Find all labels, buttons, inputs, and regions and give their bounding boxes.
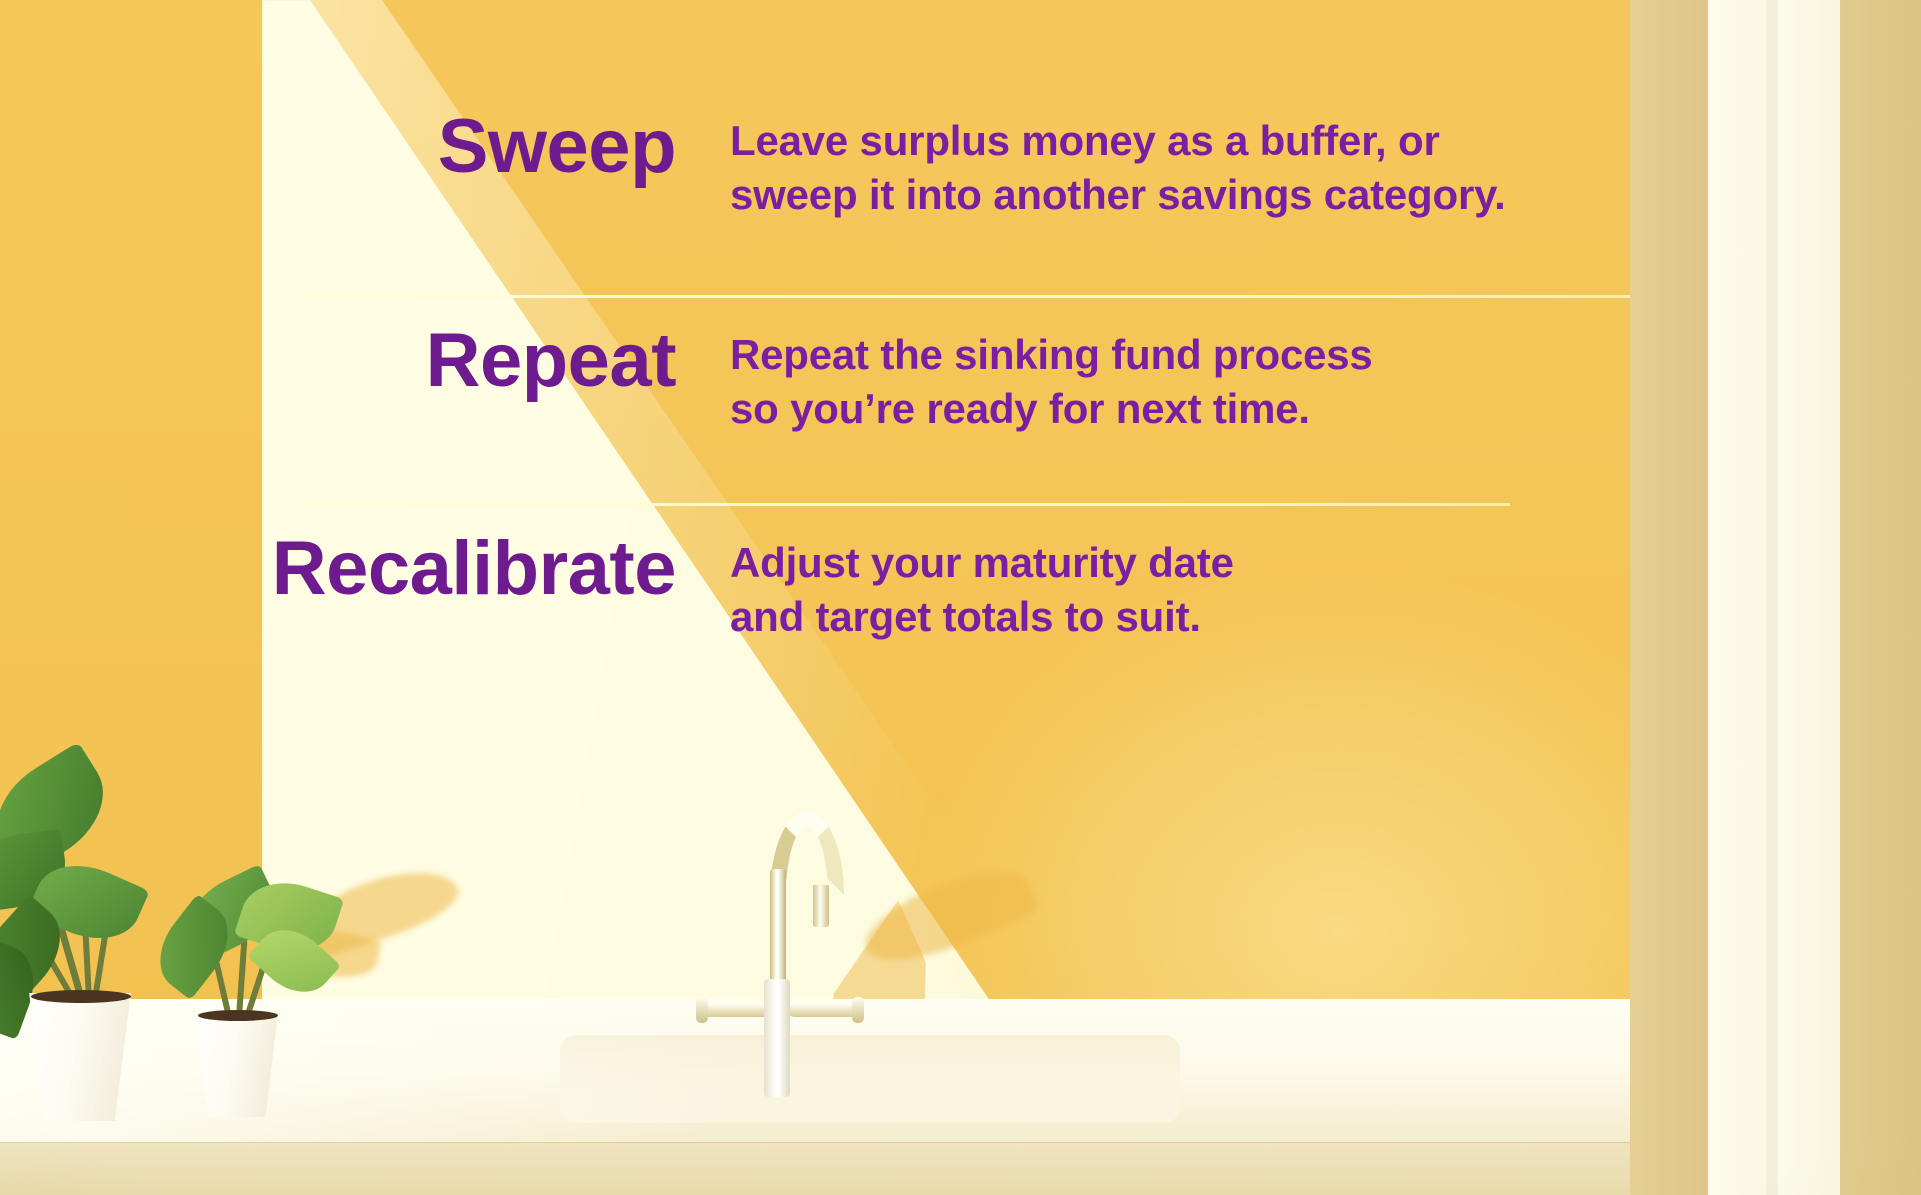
window-frame-band-3 <box>1766 0 1778 1195</box>
description-line: Leave surplus money as a buffer, or <box>730 114 1506 168</box>
row-divider <box>300 503 1510 506</box>
description-line: Repeat the sinking fund process <box>730 328 1373 382</box>
row-label-recalibrate: Recalibrate <box>0 530 730 608</box>
row-repeat: Repeat Repeat the sinking fund process s… <box>0 322 1630 436</box>
row-divider <box>302 295 1630 298</box>
window-frame-band-1 <box>1630 0 1708 1195</box>
slide-canvas: Sweep Leave surplus money as a buffer, o… <box>0 0 1921 1195</box>
window-frame-band-4 <box>1778 0 1840 1195</box>
row-label-repeat: Repeat <box>0 322 730 400</box>
description-line: Adjust your maturity date <box>730 536 1234 590</box>
window-frame-band-5 <box>1840 0 1921 1195</box>
row-sweep: Sweep Leave surplus money as a buffer, o… <box>0 108 1630 222</box>
description-line: so you’re ready for next time. <box>730 382 1373 436</box>
row-description-sweep: Leave surplus money as a buffer, or swee… <box>730 108 1506 222</box>
row-description-repeat: Repeat the sinking fund process so you’r… <box>730 322 1373 436</box>
description-line: sweep it into another savings category. <box>730 168 1506 222</box>
row-label-sweep: Sweep <box>0 108 730 186</box>
row-description-recalibrate: Adjust your maturity date and target tot… <box>730 530 1234 644</box>
window-frame-band-2 <box>1708 0 1766 1195</box>
row-recalibrate: Recalibrate Adjust your maturity date an… <box>0 530 1630 644</box>
content-overlay: Sweep Leave surplus money as a buffer, o… <box>0 0 1630 1195</box>
description-line: and target totals to suit. <box>730 590 1234 644</box>
